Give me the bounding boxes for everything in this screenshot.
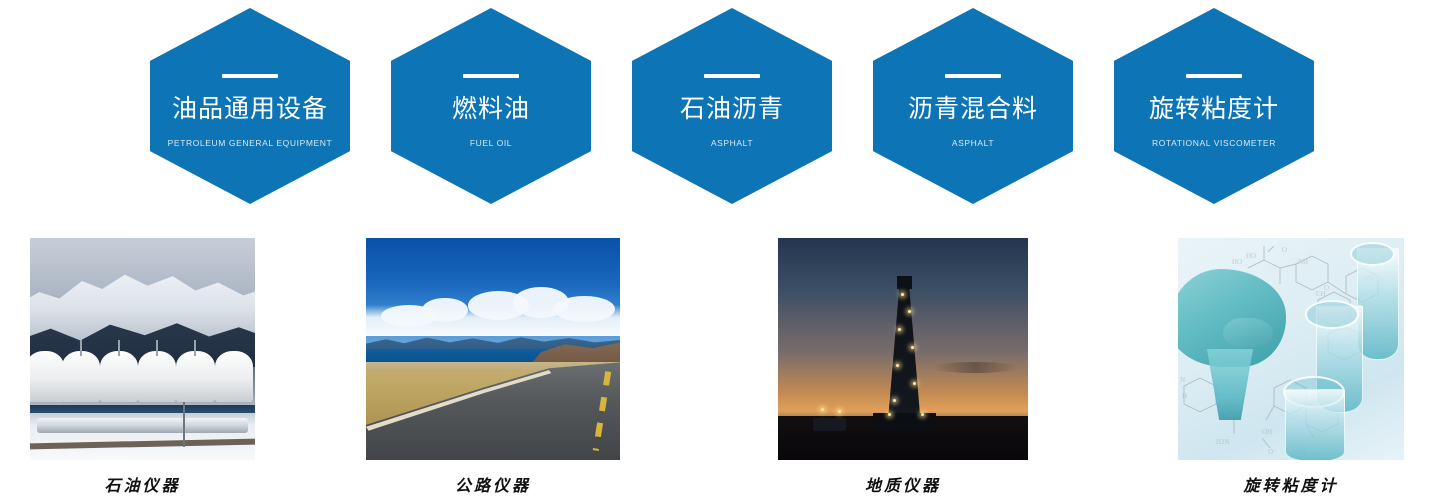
divider-rule-icon — [222, 74, 278, 78]
category-hexagon-asphalt[interactable]: 石油沥青 ASPHALT — [632, 8, 832, 204]
svg-text:CH: CH — [1316, 290, 1326, 298]
gallery-item-geological-instruments[interactable]: 地质仪器 — [778, 238, 1028, 496]
gallery-item-petroleum-instruments[interactable]: 石油仪器 — [30, 238, 255, 496]
svg-text:OH: OH — [1262, 428, 1272, 436]
category-subtitle: ASPHALT — [711, 137, 753, 149]
svg-text:H2N: H2N — [1216, 438, 1230, 446]
divider-rule-icon — [1186, 74, 1242, 78]
gallery-item-rotational-viscometer[interactable]: HO O NH O NH CH N N NH HO N H O H2N O NH — [1178, 238, 1404, 496]
category-title: 燃料油 — [452, 94, 530, 124]
category-subtitle: FUEL OIL — [470, 137, 512, 149]
svg-text:NH: NH — [1298, 258, 1308, 266]
svg-text:HO: HO — [1232, 258, 1242, 266]
gallery-caption: 旋转粘度计 — [1178, 472, 1404, 496]
gallery-caption: 地质仪器 — [778, 472, 1028, 496]
category-hexagon-petroleum-general-equipment[interactable]: 油品通用设备 PETROLEUM GENERAL EQUIPMENT — [150, 8, 350, 204]
category-title: 旋转粘度计 — [1149, 94, 1279, 124]
category-hexagon-fuel-oil[interactable]: 燃料油 FUEL OIL — [391, 8, 591, 204]
category-title: 油品通用设备 — [172, 94, 328, 124]
category-hexagon-rotational-viscometer[interactable]: 旋转粘度计 ROTATIONAL VISCOMETER — [1114, 8, 1314, 204]
svg-text:O: O — [1282, 246, 1287, 254]
category-subtitle: PETROLEUM GENERAL EQUIPMENT — [168, 137, 333, 149]
divider-rule-icon — [704, 74, 760, 78]
photo-highway-lake — [366, 238, 620, 460]
divider-rule-icon — [945, 74, 1001, 78]
category-title: 沥青混合料 — [908, 94, 1038, 124]
category-title: 石油沥青 — [680, 94, 784, 124]
photo-lab-glove-beaker: HO O NH O NH CH N N NH HO N H O H2N O NH — [1178, 238, 1404, 460]
gallery-item-highway-instruments[interactable]: 公路仪器 — [366, 238, 620, 496]
gallery-caption: 石油仪器 — [30, 472, 255, 496]
photo-drilling-rig-dusk — [778, 238, 1028, 460]
photo-snow-mountain-tank-farm — [30, 238, 255, 460]
divider-rule-icon — [463, 74, 519, 78]
gallery-row: 石油仪器 公路仪器 — [0, 238, 1440, 500]
svg-text:H: H — [1182, 392, 1187, 400]
category-subtitle: ROTATIONAL VISCOMETER — [1152, 137, 1276, 149]
svg-text:N: N — [1180, 376, 1185, 384]
category-subtitle: ASPHALT — [952, 137, 994, 149]
gallery-caption: 公路仪器 — [366, 472, 620, 496]
svg-text:O: O — [1268, 448, 1273, 456]
category-hexagon-row: 油品通用设备 PETROLEUM GENERAL EQUIPMENT 燃料油 F… — [0, 0, 1440, 215]
category-hexagon-asphalt-mixture[interactable]: 沥青混合料 ASPHALT — [873, 8, 1073, 204]
svg-text:HO: HO — [1246, 252, 1256, 260]
